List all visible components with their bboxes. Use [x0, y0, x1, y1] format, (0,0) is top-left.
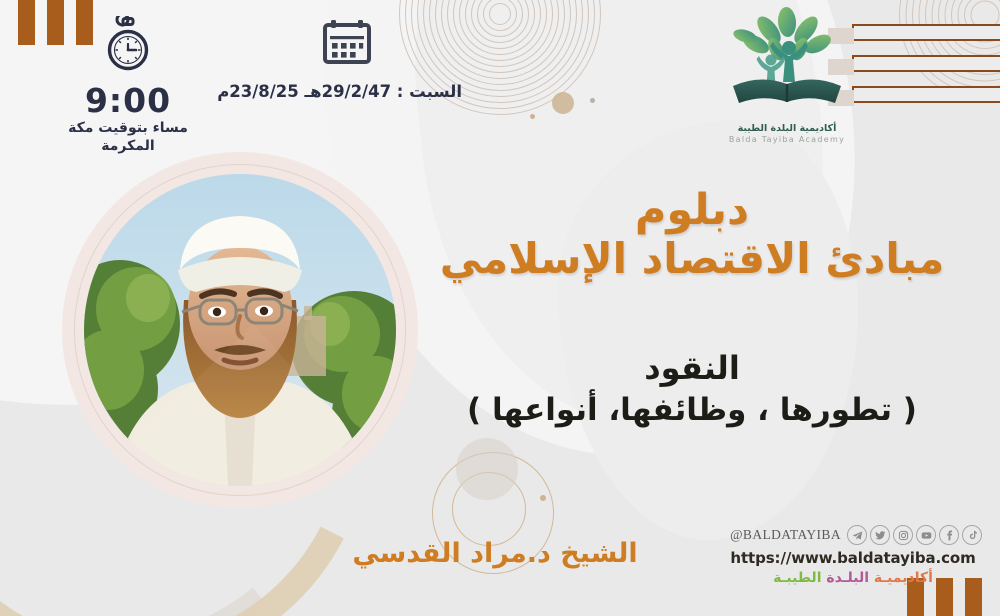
decor-circle-filled — [456, 438, 518, 500]
speaker-name: الشيخ د.مراد القدسي — [330, 538, 660, 569]
time-value: 9:00 — [62, 84, 194, 117]
academy-logo: أكاديمية البلدة الطيبة Balda Tayiba Acad… — [712, 6, 862, 144]
contact-block: @BALDATAYIBA https://www.baldatayiba.com — [724, 525, 982, 586]
headline-line-1: دبلوم — [412, 188, 972, 233]
facebook-icon[interactable] — [939, 525, 959, 545]
decor-dot-large — [552, 92, 574, 114]
academy-word-1: أكاديميـة — [874, 570, 933, 586]
bar-segment — [852, 24, 1000, 41]
stopwatch-icon — [62, 16, 194, 78]
bar-segment — [852, 86, 1000, 103]
subtitle-line-1: النقود — [412, 348, 972, 388]
website-url[interactable]: https://www.baldatayiba.com — [724, 549, 982, 567]
logo-name-english: Balda Tayiba Academy — [712, 135, 862, 144]
instagram-icon[interactable] — [893, 525, 913, 545]
tiktok-icon[interactable] — [962, 525, 982, 545]
academy-word-3: الطيبـة — [773, 570, 821, 586]
social-handle: @BALDATAYIBA — [730, 527, 841, 543]
speaker-portrait — [62, 152, 418, 508]
telegram-icon[interactable] — [847, 525, 867, 545]
academy-word-2: البلـدة — [826, 570, 869, 586]
logo-name-arabic: أكاديمية البلدة الطيبة — [712, 123, 862, 134]
headline-line-2: مبادئ الاقتصاد الإسلامي — [412, 233, 972, 286]
poster-canvas: 9:00 مساء بتوقيت مكة المكرمة — [0, 0, 1000, 616]
time-block: 9:00 مساء بتوقيت مكة المكرمة — [62, 16, 194, 155]
youtube-icon[interactable] — [916, 525, 936, 545]
tree-book-logo-icon — [721, 103, 853, 122]
subtitle-line-2: ( تطورها ، وظائفها، أنواعها ) — [412, 388, 972, 433]
social-row: @BALDATAYIBA — [724, 525, 982, 545]
academy-name-colored: أكاديميـة البلـدة الطيبـة — [724, 570, 982, 586]
portrait-photo — [84, 174, 396, 486]
calendar-icon — [232, 18, 462, 70]
time-note: مساء بتوقيت مكة المكرمة — [62, 120, 194, 155]
date-value: السبت : 29/2/47هـ 23/8/25م — [232, 82, 462, 101]
twitter-icon[interactable] — [870, 525, 890, 545]
page-title: دبلوم مبادئ الاقتصاد الإسلامي — [412, 188, 972, 286]
decor-dot-tiny-a — [530, 114, 535, 119]
page-subtitle: النقود ( تطورها ، وظائفها، أنواعها ) — [412, 348, 972, 433]
bar-segment — [18, 0, 35, 45]
decor-dot-tiny-b — [590, 98, 595, 103]
bar-segment — [852, 55, 1000, 72]
date-block: السبت : 29/2/47هـ 23/8/25م — [232, 18, 462, 101]
decor-dot-tiny-c — [540, 495, 546, 501]
corner-bars-top-right — [852, 24, 1000, 117]
